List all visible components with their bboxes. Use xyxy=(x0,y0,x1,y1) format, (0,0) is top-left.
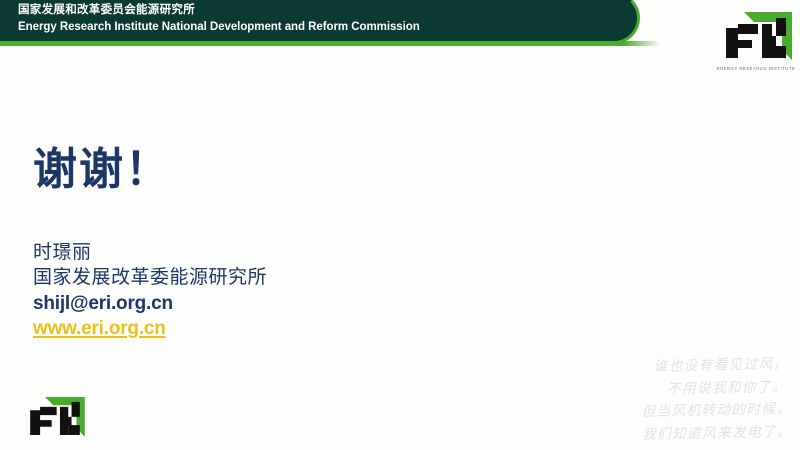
header-title-chinese: 国家发展和改革委员会能源研究所 xyxy=(18,4,420,18)
eri-logo-caption: ENERGY RESEARCH INSTITUTE xyxy=(714,66,798,71)
eri-logo-top xyxy=(714,6,798,64)
thank-you-heading: 谢谢！ xyxy=(33,133,171,197)
watermark-line: 我们知道风来发电了。 xyxy=(642,421,792,447)
slide-canvas: 国家发展和改革委员会能源研究所 Energy Research Institut… xyxy=(0,0,800,450)
contact-person-name: 时璟丽 xyxy=(33,240,267,265)
watermark-poem: 谁也没有看见过风， 不用说我和你了。 但当风机转动的时候， 我们知道风来发电了。 xyxy=(640,353,792,447)
header-title-block: 国家发展和改革委员会能源研究所 Energy Research Institut… xyxy=(18,4,420,34)
watermark-line: 谁也没有看见过风， xyxy=(640,353,790,379)
header-title-english: Energy Research Institute National Devel… xyxy=(18,21,420,35)
header-accent-rule xyxy=(0,41,614,46)
contact-website-link[interactable]: www.eri.org.cn xyxy=(33,316,267,341)
contact-email[interactable]: shijl@eri.org.cn xyxy=(33,291,267,316)
eri-logo-bottom xyxy=(18,392,92,440)
contact-block: 时璟丽 国家发展改革委能源研究所 shijl@eri.org.cn www.er… xyxy=(33,240,267,341)
contact-organization: 国家发展改革委能源研究所 xyxy=(33,265,267,290)
header-accent-rule-taper xyxy=(600,41,660,46)
